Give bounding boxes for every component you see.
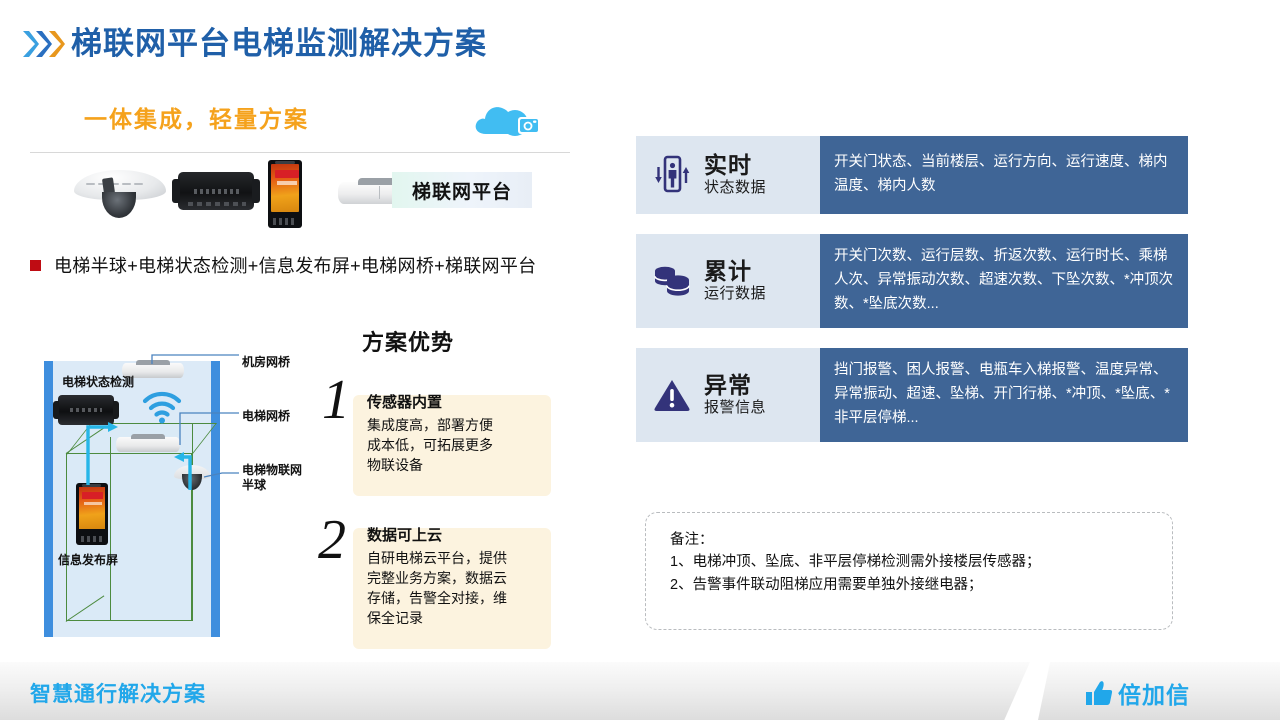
- card-cumulative-title: 累计: [704, 258, 766, 284]
- card-realtime-title: 实时: [704, 152, 766, 178]
- black-detection-box-icon: [178, 172, 254, 210]
- card-cumulative: 累计 运行数据 开关门次数、运行层数、折返次数、运行时长、乘梯人次、异常振动次数…: [636, 234, 1188, 328]
- platform-badge: 梯联网平台: [392, 172, 532, 208]
- elevator-car-edge: [192, 423, 193, 621]
- warning-triangle-icon: [652, 373, 692, 417]
- label-iot-line1: 电梯物联网: [242, 463, 302, 477]
- info-display-kiosk-icon: [268, 160, 302, 228]
- iot-dome-camera-icon: [172, 463, 212, 493]
- advantage-heading-1: 传感器内置: [367, 391, 539, 412]
- card-alarm-subtitle: 报警信息: [704, 398, 766, 418]
- card-alarm-header: 异常 报警信息: [636, 348, 820, 442]
- advantage-heading-2: 数据可上云: [367, 524, 539, 545]
- label-state-detection: 电梯状态检测: [62, 375, 134, 390]
- notes-heading: 备注：: [670, 529, 1172, 551]
- platform-badge-label: 梯联网平台: [412, 177, 512, 204]
- composition-bullet: 电梯半球+电梯状态检测+信息发布屏+电梯网桥+梯联网平台: [30, 252, 536, 278]
- section-subtitle: 一体集成，轻量方案: [84, 100, 309, 134]
- thumbs-up-icon: [1084, 679, 1114, 707]
- wifi-signal-icon: [142, 391, 182, 425]
- slide-root: 梯联网平台电梯监测解决方案 一体集成，轻量方案: [0, 0, 1280, 720]
- brand-name: 倍加信: [1118, 676, 1190, 710]
- label-elevator-bridge: 电梯网桥: [242, 409, 290, 424]
- database-stack-icon: [652, 259, 692, 303]
- card-cumulative-subtitle: 运行数据: [704, 284, 766, 304]
- chevron-right-icon: [48, 29, 65, 59]
- slide-footer: 智慧通行解决方案 倍加信: [0, 662, 1280, 720]
- label-iot-line2: 半球: [242, 478, 266, 492]
- advantage-card-1: 传感器内置 集成度高，部署方便 成本低，可拓展更多 物联设备: [353, 395, 551, 496]
- elevator-car-edge: [110, 437, 111, 621]
- advantage-number-2: 2: [318, 512, 346, 568]
- card-realtime-header: 实时 状态数据: [636, 136, 820, 214]
- shaft-rail-left: [44, 361, 53, 637]
- advantage-body-1: 集成度高，部署方便 成本低，可拓展更多 物联设备: [367, 416, 539, 476]
- state-detection-box-icon: [58, 395, 114, 425]
- cloud-camera-icon: [472, 100, 544, 142]
- notes-line-1: 1、电梯冲顶、坠底、非平层停梯检测需外接楼层传感器；: [670, 551, 1172, 573]
- advantage-number-1: 1: [322, 372, 350, 428]
- label-elevator-iot-dome: 电梯物联网 半球: [242, 463, 322, 493]
- advantages-title: 方案优势: [362, 325, 454, 357]
- composition-bullet-text: 电梯半球+电梯状态检测+信息发布屏+电梯网桥+梯联网平台: [54, 252, 536, 278]
- brand-logo: 倍加信: [1084, 676, 1190, 710]
- elevator-bridge-icon: [116, 437, 180, 452]
- card-realtime: 实时 状态数据 开关门状态、当前楼层、运行方向、运行速度、梯内温度、梯内人数: [636, 136, 1188, 214]
- card-alarm: 异常 报警信息 挡门报警、困人报警、电瓶车入梯报警、温度异常、异常振动、超速、坠…: [636, 348, 1188, 442]
- card-alarm-body: 挡门报警、困人报警、电瓶车入梯报警、温度异常、异常振动、超速、坠梯、开门行梯、*…: [820, 348, 1188, 442]
- label-info-screen: 信息发布屏: [58, 553, 118, 568]
- notes-box: 备注： 1、电梯冲顶、坠底、非平层停梯检测需外接楼层传感器； 2、告警事件联动阻…: [645, 512, 1173, 630]
- card-cumulative-body: 开关门次数、运行层数、折返次数、运行时长、乘梯人次、异常振动次数、超速次数、下坠…: [820, 234, 1188, 328]
- data-category-cards: 实时 状态数据 开关门状态、当前楼层、运行方向、运行速度、梯内温度、梯内人数 累…: [636, 136, 1188, 462]
- advantage-card-2: 数据可上云 自研电梯云平台，提供 完整业务方案，数据云 存储，告警全对接，维 保…: [353, 528, 551, 649]
- advantage-body-2: 自研电梯云平台，提供 完整业务方案，数据云 存储，告警全对接，维 保全记录: [367, 549, 539, 629]
- footer-title: 智慧通行解决方案: [30, 678, 206, 708]
- card-alarm-title: 异常: [704, 372, 766, 398]
- card-realtime-body: 开关门状态、当前楼层、运行方向、运行速度、梯内温度、梯内人数: [820, 136, 1188, 214]
- elevator-person-arrows-icon: [652, 153, 692, 197]
- shaft-rail-right: [211, 361, 220, 637]
- slide-header: 梯联网平台电梯监测解决方案: [22, 28, 487, 59]
- card-cumulative-header: 累计 运行数据: [636, 234, 820, 328]
- card-realtime-subtitle: 状态数据: [704, 178, 766, 198]
- chevron-logo-icon: [22, 29, 61, 59]
- elevator-diagram: 机房网桥 电梯网桥 电梯物联网 半球 电梯状态检测 信息发布屏: [44, 345, 329, 645]
- label-machine-room-bridge: 机房网桥: [242, 355, 290, 370]
- notes-line-2: 2、告警事件联动阻梯应用需要单独外接继电器；: [670, 574, 1172, 596]
- bullet-square-icon: [30, 260, 41, 271]
- header-divider: [30, 152, 570, 153]
- info-screen-icon: [76, 483, 108, 545]
- page-title: 梯联网平台电梯监测解决方案: [71, 28, 487, 59]
